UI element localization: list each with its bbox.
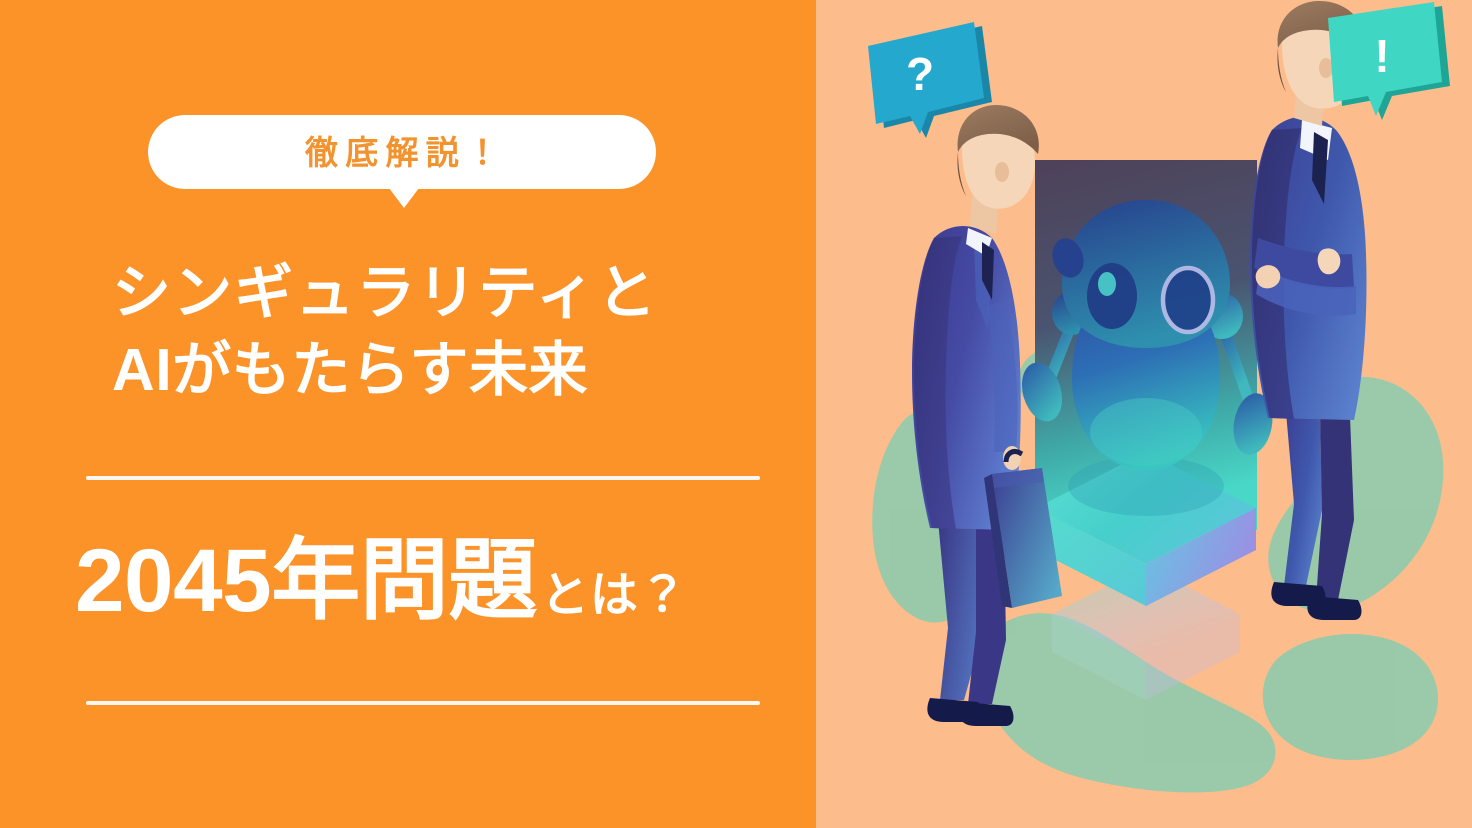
page-subtitle: 2045年問題 とは？ bbox=[75, 536, 688, 625]
left-text-panel: 徹底解説！ シンギュラリティと AIがもたらす未来 2045年問題 とは？ bbox=[0, 0, 816, 828]
right-illustration-panel: ? ! bbox=[816, 0, 1472, 828]
page-subtitle-tail: とは？ bbox=[537, 572, 688, 620]
badge-label: 徹底解説！ bbox=[298, 136, 507, 169]
question-bubble-glyph: ? bbox=[906, 48, 934, 100]
exclamation-bubble-glyph: ! bbox=[1374, 30, 1389, 82]
badge-pill: 徹底解説！ bbox=[148, 115, 656, 189]
divider-bottom bbox=[86, 701, 760, 705]
divider-top bbox=[86, 476, 760, 480]
page-title-line-1: シンギュラリティと bbox=[112, 255, 812, 332]
page-subtitle-main: 2045年問題 bbox=[75, 536, 537, 625]
robot-left-eye bbox=[1087, 263, 1137, 329]
exclamation-bubble: ! bbox=[1328, 2, 1450, 120]
thumbnail-canvas: 徹底解説！ シンギュラリティと AIがもたらす未来 2045年問題 とは？ bbox=[0, 0, 1472, 828]
page-title: シンギュラリティと AIがもたらす未来 bbox=[112, 255, 812, 408]
page-title-line-2: AIがもたらす未来 bbox=[112, 332, 812, 409]
blob-right-lower bbox=[1263, 634, 1438, 760]
ai-illustration: ? ! bbox=[816, 0, 1472, 828]
badge-pointer-icon bbox=[389, 188, 419, 208]
